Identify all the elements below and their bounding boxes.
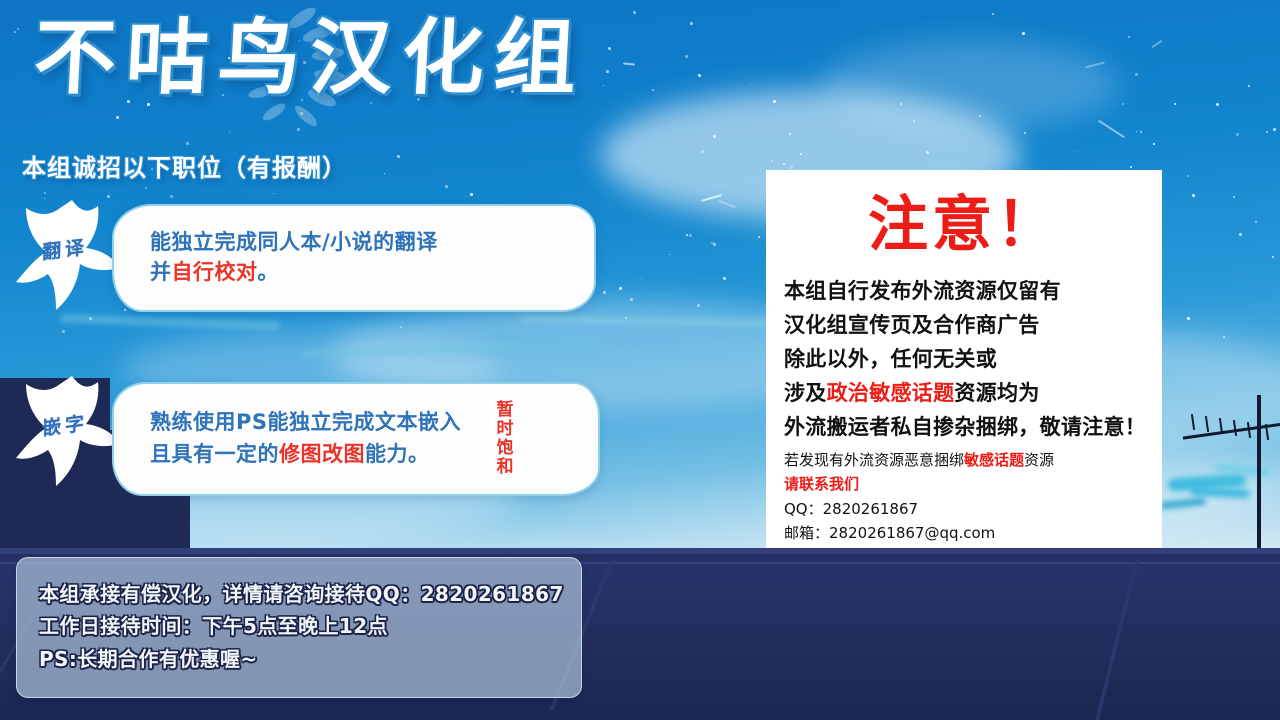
star-sparkle: [44, 192, 46, 194]
notice-line-prefix: 涉及: [784, 381, 827, 405]
banner-line-3: PS:长期合作有优惠喔~: [39, 643, 564, 675]
notice-line: 外流搬运者私自掺杂捆绑，敬请注意！: [784, 410, 1152, 444]
star-sparkle: [625, 317, 627, 319]
star-sparkle: [1272, 256, 1274, 258]
rooftop-edge: [0, 548, 1280, 554]
star-sparkle: [698, 190, 699, 191]
warning-prefix: 若发现有外流资源恶意捆绑: [784, 451, 964, 469]
star-sparkle: [1122, 103, 1124, 105]
bubble-line-2-highlight: 修图改图: [279, 442, 365, 466]
star-sparkle: [62, 330, 65, 333]
star-sparkle: [701, 150, 704, 153]
antenna-mast-icon: [1257, 395, 1261, 551]
star-sparkle: [690, 22, 693, 25]
star-sparkle: [186, 142, 189, 145]
star-sparkle: [606, 70, 609, 73]
star-sparkle: [1128, 36, 1130, 38]
cloud-shape: [820, 40, 1120, 130]
notice-line: 涉及政治敏感话题资源均为: [784, 376, 1152, 410]
star-sparkle: [790, 166, 793, 169]
bubble-line-1: 熟练使用PS能独立完成文本嵌入: [150, 408, 461, 438]
star-sparkle: [1192, 194, 1195, 197]
bubble-line-2-suffix: 。: [258, 260, 280, 284]
star-sparkle: [992, 13, 994, 15]
star-sparkle: [1153, 143, 1155, 145]
star-sparkle: [14, 31, 16, 33]
recruit-entry-typesetter: 嵌字 熟练使用PS能独立完成文本嵌入 且具有一定的修图改图能力。 暂时饱和: [16, 374, 616, 504]
star-sparkle: [669, 254, 670, 255]
warning-highlight: 敏感话题: [964, 451, 1024, 469]
star-sparkle: [789, 133, 791, 135]
speech-bubble: 熟练使用PS能独立完成文本嵌入 且具有一定的修图改图能力。 暂时饱和: [112, 382, 600, 496]
star-sparkle: [400, 326, 402, 328]
notice-line: 本组自行发布外流资源仅留有: [784, 274, 1152, 308]
star-sparkle: [1236, 133, 1239, 136]
notice-contact-block: 若发现有外流资源恶意捆绑敏感话题资源 请联系我们 QQ：2820261867 邮…: [784, 448, 1152, 545]
star-sparkle: [1135, 73, 1138, 76]
status-badge-saturated: 暂时饱和: [492, 400, 512, 476]
star-sparkle: [1239, 233, 1242, 236]
email-row: 邮箱：2820261867@qq.com: [784, 521, 1152, 545]
star-sparkle: [723, 277, 726, 280]
bubble-line-2-prefix: 并: [150, 260, 172, 284]
notice-line-prefix: 外流搬运者私自掺杂捆绑，敬请注意！: [784, 415, 1146, 439]
notice-warning-line: 若发现有外流资源恶意捆绑敏感话题资源: [784, 448, 1152, 472]
star-sparkle: [783, 163, 785, 165]
star-sparkle: [1140, 131, 1142, 133]
bubble-line-1: 能独立完成同人本/小说的翻译: [150, 228, 438, 258]
bubble-line-2-highlight: 自行校对: [172, 260, 258, 284]
star-sparkle: [686, 234, 688, 236]
qq-value[interactable]: 2820261867: [823, 500, 918, 518]
bottom-info-banner: 本组承接有偿汉化，详情请咨询接待QQ：2820261867 工作日接待时间：下午…: [16, 557, 582, 698]
notice-body: 本组自行发布外流资源仅留有 汉化组宣传页及合作商广告 除此以外，任何无关或 涉及…: [784, 274, 1152, 444]
star-sparkle: [1223, 336, 1225, 338]
email-label: 邮箱：: [784, 524, 829, 542]
star-sparkle: [1022, 32, 1025, 35]
star-sparkle: [1187, 175, 1189, 177]
bubble-line-2: 并自行校对。: [150, 258, 279, 288]
star-sparkle: [445, 185, 448, 188]
qq-row: QQ：2820261867: [784, 497, 1152, 521]
notice-line-prefix: 本组自行发布外流资源仅留有: [784, 279, 1061, 303]
bubble-line-2: 且具有一定的修图改图能力。: [150, 440, 430, 470]
star-sparkle: [1233, 196, 1235, 198]
notice-line-suffix: 资源均为: [954, 381, 1039, 405]
notice-line-prefix: 除此以外，任何无关或: [784, 347, 997, 371]
qq-label: QQ：: [784, 500, 823, 518]
star-sparkle: [1273, 128, 1276, 131]
star-sparkle: [771, 160, 773, 162]
star-sparkle: [685, 55, 688, 58]
contact-us-label: 请联系我们: [784, 472, 1152, 496]
recruit-entry-translator: 翻译 能独立完成同人本/小说的翻译 并自行校对。: [16, 198, 616, 318]
star-sparkle: [1266, 131, 1268, 133]
star-sparkle: [979, 115, 981, 117]
poster-canvas: 不咕鸟汉化组 本组诚招以下职位（有报酬） 翻译 能独立完成同人本/小说的翻译 并…: [0, 0, 1280, 720]
notice-line-prefix: 汉化组宣传页及合作商广告: [784, 313, 1040, 337]
page-subtitle: 本组诚招以下职位（有报酬）: [22, 148, 347, 183]
speech-bubble: 能独立完成同人本/小说的翻译 并自行校对。: [112, 204, 596, 312]
notice-line: 除此以外，任何无关或: [784, 342, 1152, 376]
notice-line-highlight: 政治敏感话题: [827, 381, 955, 405]
bubble-line-2-prefix: 且具有一定的: [150, 442, 279, 466]
star-sparkle: [713, 135, 716, 138]
notice-line: 汉化组宣传页及合作商广告: [784, 308, 1152, 342]
notice-title: 注意！: [766, 176, 1162, 263]
banner-line-1: 本组承接有偿汉化，详情请咨询接待QQ：2820261867: [39, 578, 564, 610]
star-sparkle: [913, 120, 915, 122]
bubble-line-2-suffix: 能力。: [365, 442, 430, 466]
page-title: 不咕鸟汉化组: [32, 16, 589, 102]
email-value[interactable]: 2820261867@qq.com: [829, 524, 995, 542]
banner-text-block: 本组承接有偿汉化，详情请咨询接待QQ：2820261867 工作日接待时间：下午…: [39, 578, 564, 675]
banner-line-2: 工作日接待时间：下午5点至晚上12点: [39, 610, 564, 642]
star-sparkle: [384, 173, 385, 174]
notice-panel: 注意！ 本组自行发布外流资源仅留有 汉化组宣传页及合作商广告 除此以外，任何无关…: [766, 170, 1162, 548]
star-sparkle: [1024, 132, 1026, 134]
warning-suffix: 资源: [1024, 451, 1054, 469]
